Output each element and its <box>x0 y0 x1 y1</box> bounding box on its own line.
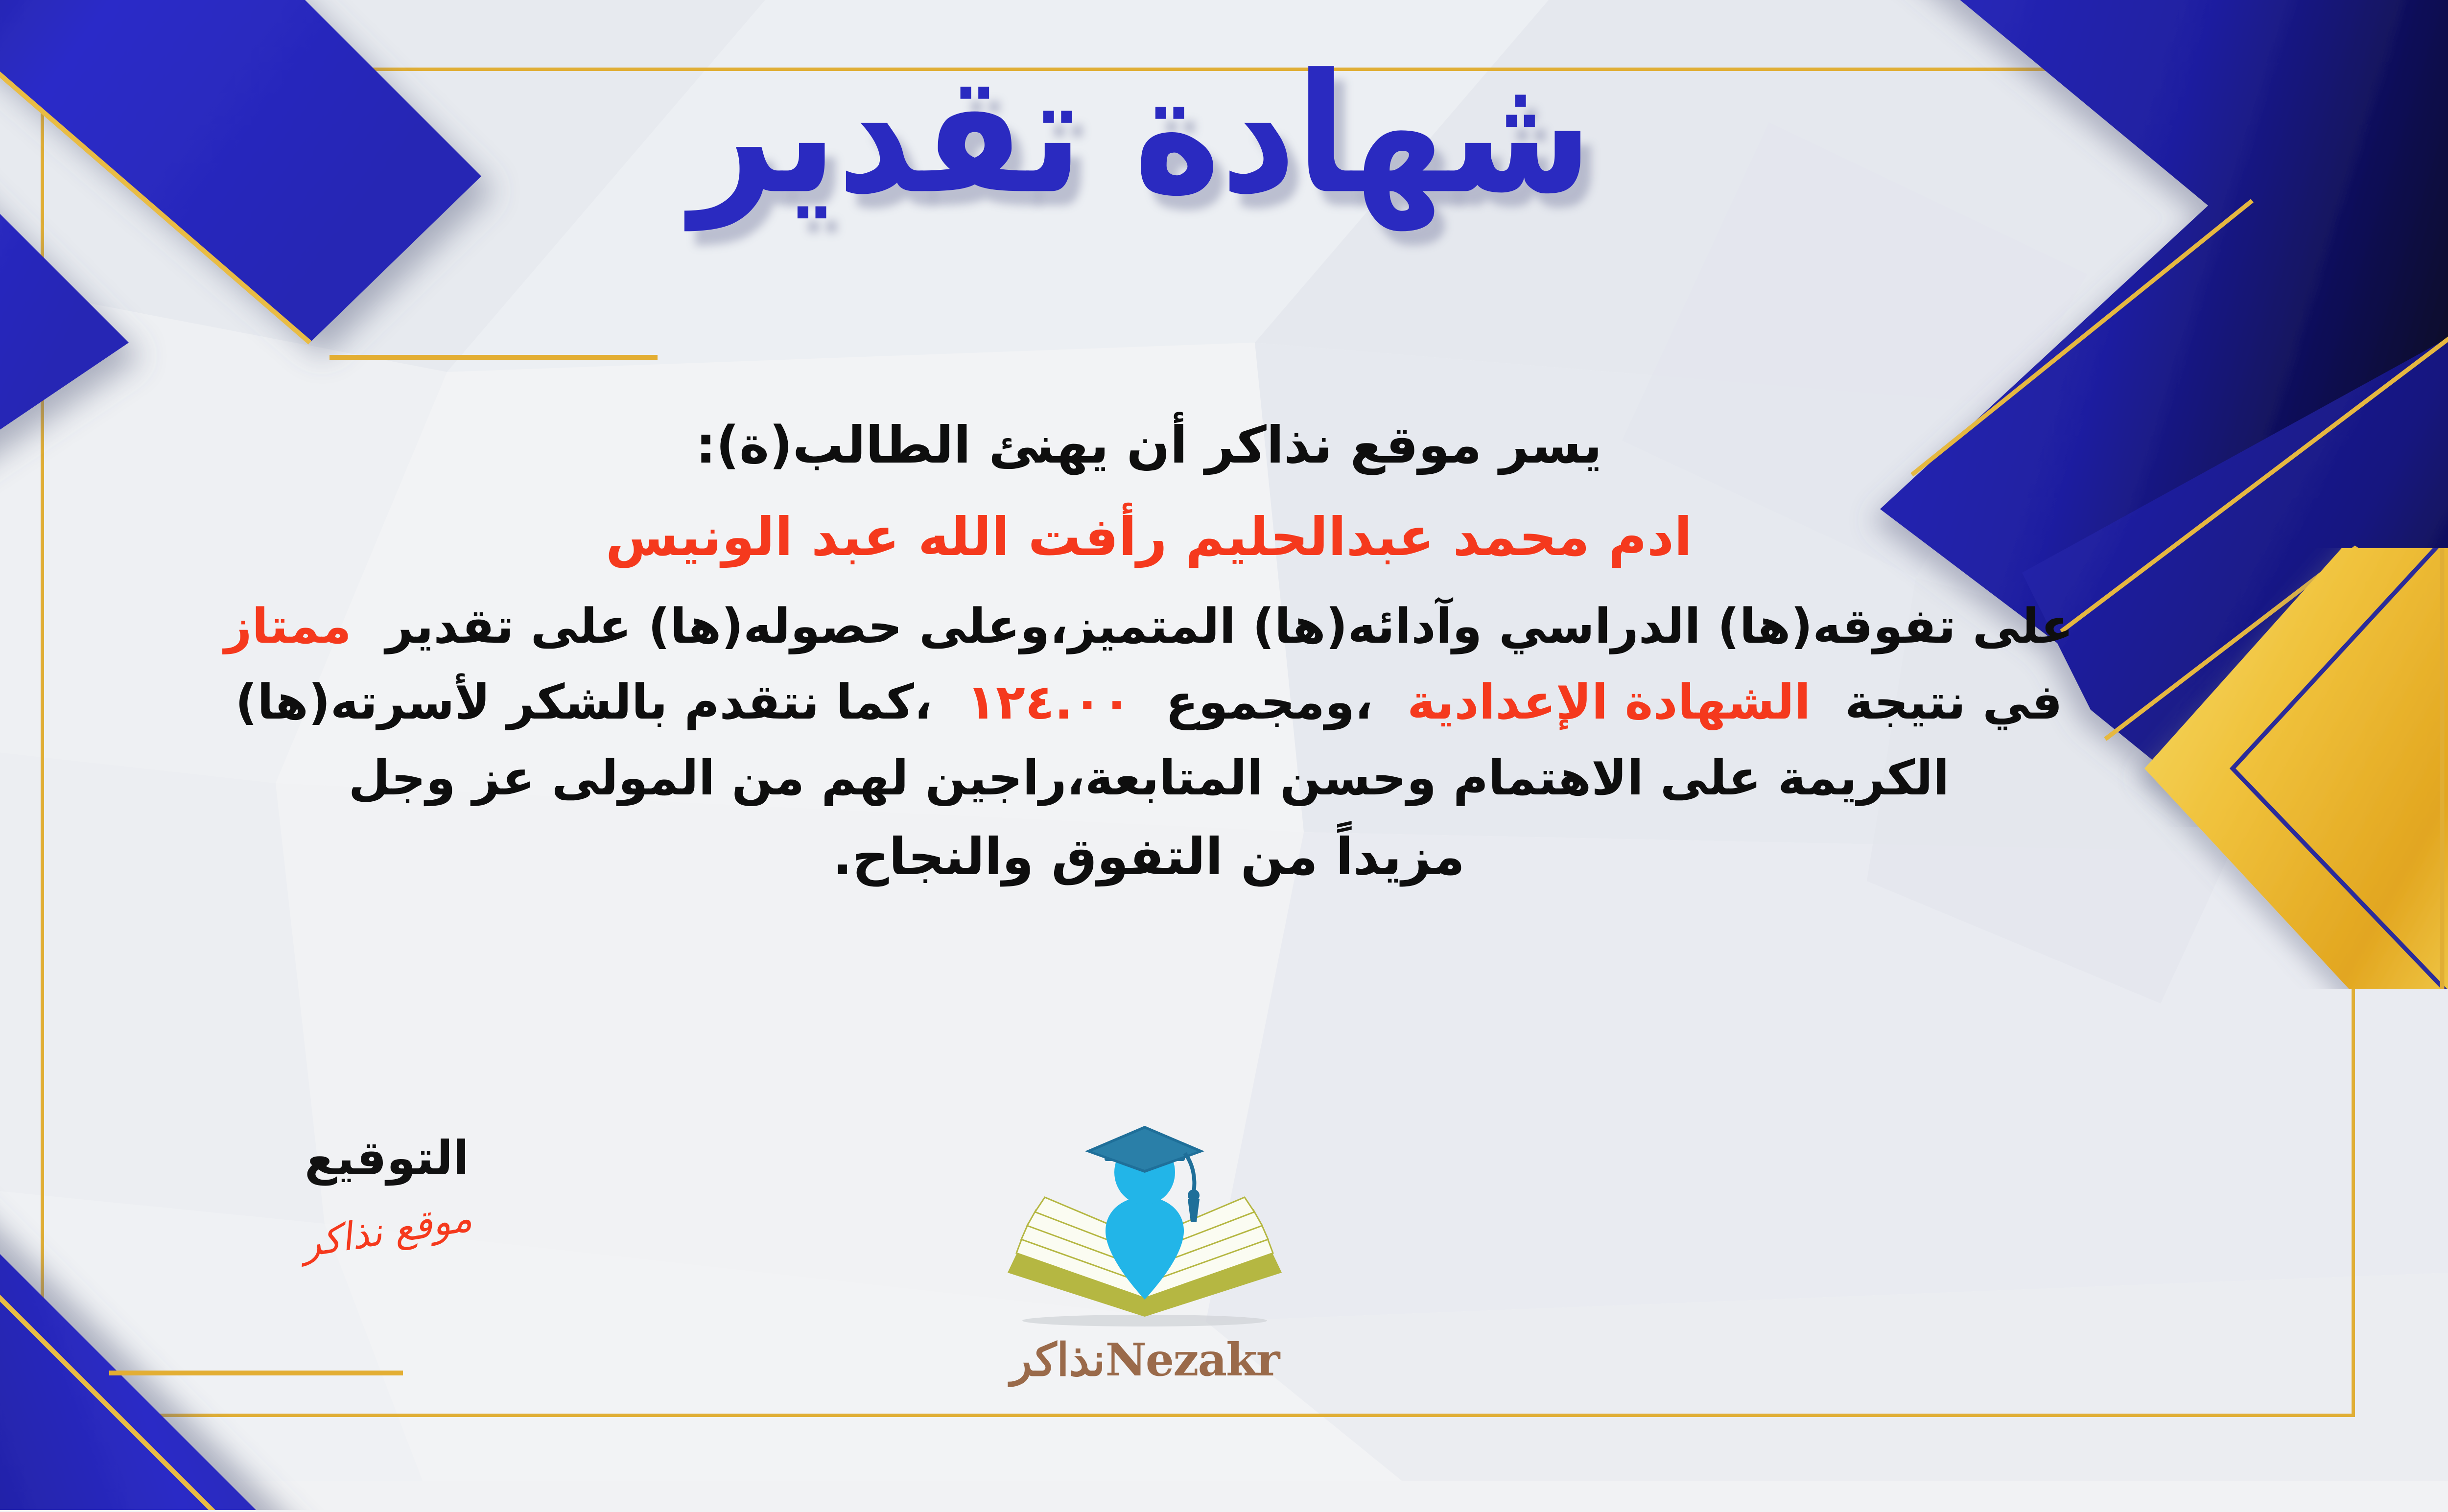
achievement-line: على تفوقه(ها) الدراسي وآدائه(ها) المتميز… <box>46 590 2252 663</box>
total-score: ١٢٤.٠٠ <box>966 675 1131 730</box>
site-logo: Nezakrنذاكر <box>959 1126 1331 1429</box>
signature-block: التوقيع موقع نذاكر <box>250 1131 524 1253</box>
logo-wordmark: Nezakrنذاكر <box>959 1333 1331 1386</box>
greeting-line: يسر موقع نذاكر أن يهنئ الطالب(ة): <box>46 406 2252 484</box>
page-title: شهادة تقدير <box>690 52 1592 217</box>
family-thanks-line: الكريمة على الاهتمام وحسن المتابعة،راجين… <box>46 742 2252 815</box>
graduation-book-icon <box>959 1126 1331 1336</box>
thanks-text: ،كما نتقدم بالشكر لأسرته(ها) <box>235 675 932 730</box>
grade-value: ممتاز <box>224 599 352 654</box>
exam-name: الشهادة الإعدادية <box>1407 675 1811 730</box>
certificate-title-wrapper: شهادة تقدير <box>0 61 2448 208</box>
result-line: في نتيجةالشهادة الإعدادية،ومجموع١٢٤.٠٠،ك… <box>46 666 2252 739</box>
certificate-paragraph: على تفوقه(ها) الدراسي وآدائه(ها) المتميز… <box>46 590 2252 895</box>
total-label: ،ومجموع <box>1166 675 1373 730</box>
achievement-text: على تفوقه(ها) الدراسي وآدائه(ها) المتميز… <box>386 599 2073 654</box>
result-prefix: في نتيجة <box>1845 675 2062 730</box>
student-name: ادم محمد عبدالحليم رأفت الله عبد الونيس <box>46 497 2252 578</box>
signature-label: التوقيع <box>250 1131 524 1186</box>
certificate-sheet: شهادة تقدير يسر موقع نذاكر أن يهنئ الطال… <box>0 0 2448 1481</box>
closing-line: مزيداً من التفوق والنجاح. <box>46 818 2252 895</box>
signature-script: موقع نذاكر <box>299 1196 475 1266</box>
certificate-body: يسر موقع نذاكر أن يهنئ الطالب(ة): ادم مح… <box>46 406 2252 898</box>
